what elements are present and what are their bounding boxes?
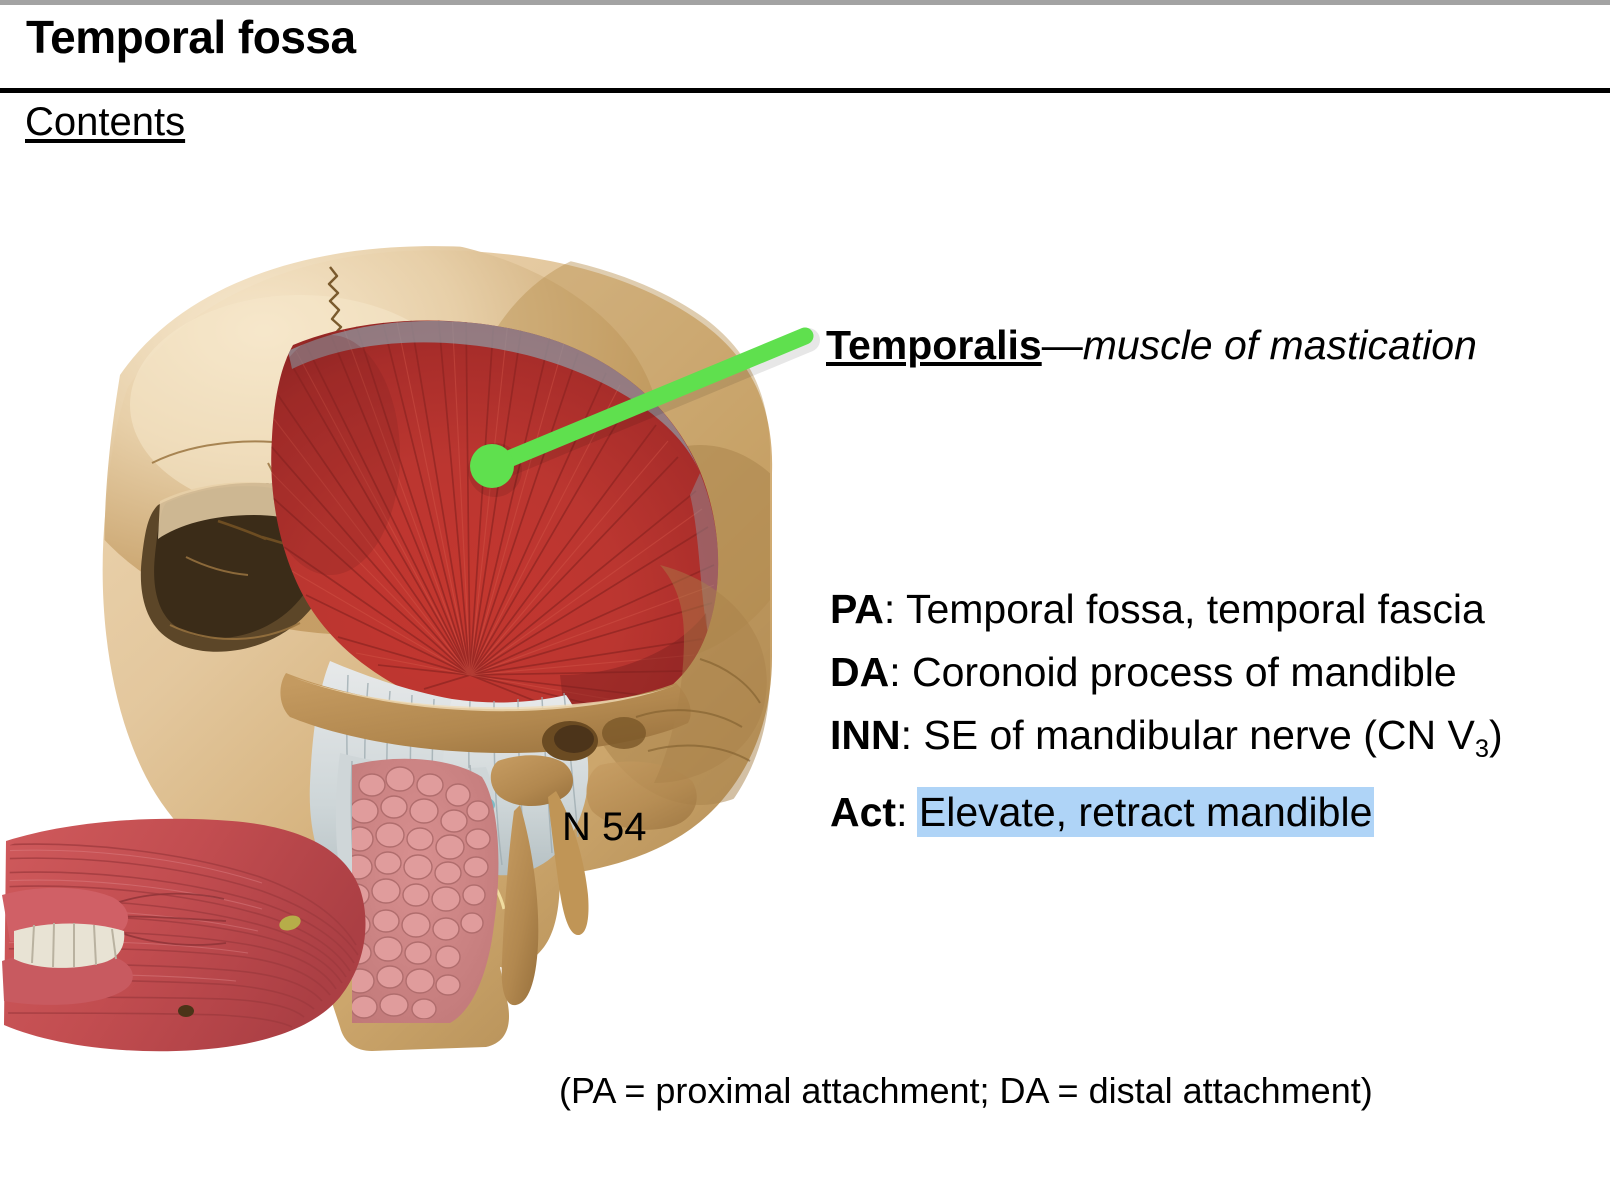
attribute-value-act: Elevate, retract mandible: [919, 789, 1373, 835]
attribute-sep-pa: :: [884, 586, 906, 632]
attribute-row-inn: INN: SE of mandibular nerve (CN V3): [830, 704, 1570, 781]
muscle-description: muscle of mastication: [1083, 322, 1477, 368]
attribute-sep-da: :: [889, 649, 912, 695]
attribute-key-da: DA: [830, 649, 889, 695]
attribute-value-inn-tail: ): [1489, 712, 1503, 758]
slide-canvas: Temporal fossa Contents: [0, 0, 1610, 1186]
attribute-sep-act: :: [896, 789, 919, 835]
attribute-value-da: Coronoid process of mandible: [912, 649, 1457, 695]
attribute-sep-inn: :: [901, 712, 924, 758]
page-title: Temporal fossa: [26, 10, 356, 64]
abbreviation-footnote: (PA = proximal attachment; DA = distal a…: [559, 1070, 1373, 1112]
attribute-key-act: Act: [830, 789, 896, 835]
header-divider: [0, 88, 1610, 93]
attribute-key-inn: INN: [830, 712, 901, 758]
lips-and-teeth: [2, 888, 133, 1005]
attribute-row-pa: PA: Temporal fossa, temporal fascia: [830, 578, 1570, 641]
muscle-name: Temporalis: [826, 322, 1042, 368]
mandible-body: [115, 976, 350, 1074]
nerve-division-subscript: 3: [1475, 735, 1489, 763]
attribute-value-inn: SE of mandibular nerve (CN V: [923, 712, 1474, 758]
attribute-row-da: DA: Coronoid process of mandible: [830, 641, 1570, 704]
attribute-row-act: Act: Elevate, retract mandible: [830, 781, 1570, 844]
callout-dash: —: [1042, 322, 1083, 368]
attribute-value-pa: Temporal fossa, temporal fascia: [906, 586, 1485, 632]
buccal-fat-pad: [342, 759, 498, 1023]
contents-link[interactable]: Contents: [25, 100, 185, 145]
muscle-attributes-list: PA: Temporal fossa, temporal fascia DA: …: [830, 578, 1570, 844]
attribute-key-pa: PA: [830, 586, 884, 632]
window-top-bar: [0, 0, 1610, 5]
anatomy-figure: [0, 205, 800, 1075]
plate-reference-label: N 54: [562, 805, 647, 850]
muscle-callout-label: Temporalis—muscle of mastication: [826, 322, 1477, 369]
